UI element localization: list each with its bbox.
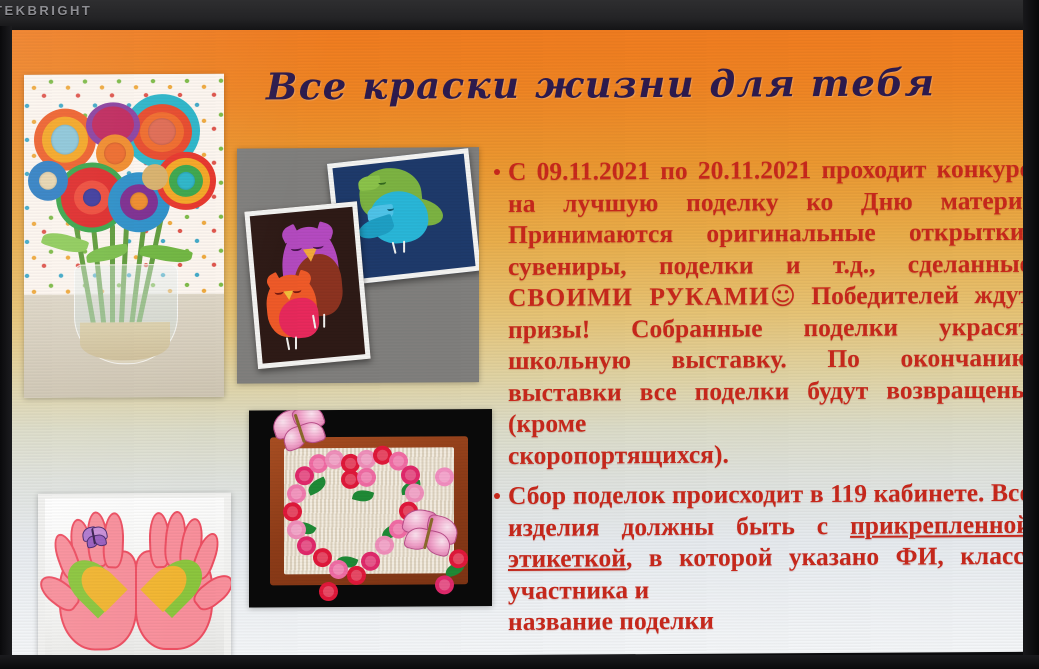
rose: [375, 536, 394, 555]
photo-rose-heart-frame: [249, 409, 492, 607]
monitor-photo-frame: Все краски жизни для тебя: [0, 0, 1039, 669]
paragraph-submission-location: Сбор поделок происходит в 119 кабинете. …: [493, 477, 1025, 638]
monitor-brand-label: TEKBRIGHT: [0, 3, 92, 18]
rose: [357, 468, 376, 487]
drawing-paper: [45, 498, 224, 657]
rose: [287, 484, 306, 503]
paragraph-contest-announcement: С 09.11.2021 по 20.11.2021 проходит конк…: [493, 153, 1025, 471]
announcement-emphasis: СВОИМИ РУКАМИ: [508, 281, 770, 312]
slide-body-text: С 09.11.2021 по 20.11.2021 проходит конк…: [493, 153, 1025, 647]
announcement-text-part3: скоропортящихся).: [508, 436, 1025, 471]
smiley-icon: ☺: [770, 281, 796, 310]
monitor-bezel-bottom: [0, 655, 1039, 669]
rose: [361, 552, 380, 571]
rose: [283, 502, 302, 521]
monitor-bezel-top: TEKBRIGHT: [0, 0, 1039, 30]
rose: [435, 467, 454, 486]
rose: [405, 483, 424, 502]
heart-fill-yellow: [105, 568, 163, 626]
announcement-text-part1: С 09.11.2021 по 20.11.2021 проходит конк…: [508, 154, 1025, 281]
slide-title: Все краски жизни для тебя: [266, 60, 936, 108]
presentation-slide: Все краски жизни для тебя: [11, 22, 1025, 658]
owl-card: [244, 201, 370, 369]
rose: [329, 560, 348, 579]
photo-flower-bouquet: [24, 74, 224, 398]
rose: [401, 466, 420, 485]
rose: [449, 549, 468, 568]
photo-hands-with-heart: [38, 493, 231, 658]
photo-paper-bird-cards: [237, 147, 479, 383]
rose: [347, 566, 366, 585]
monitor-bezel-right: [1023, 0, 1039, 669]
monitor-bezel-left: [0, 26, 12, 669]
rose: [319, 582, 338, 601]
rose: [435, 575, 454, 594]
vase-sand: [80, 322, 170, 361]
submission-text-part3: название поделки: [508, 603, 1025, 638]
